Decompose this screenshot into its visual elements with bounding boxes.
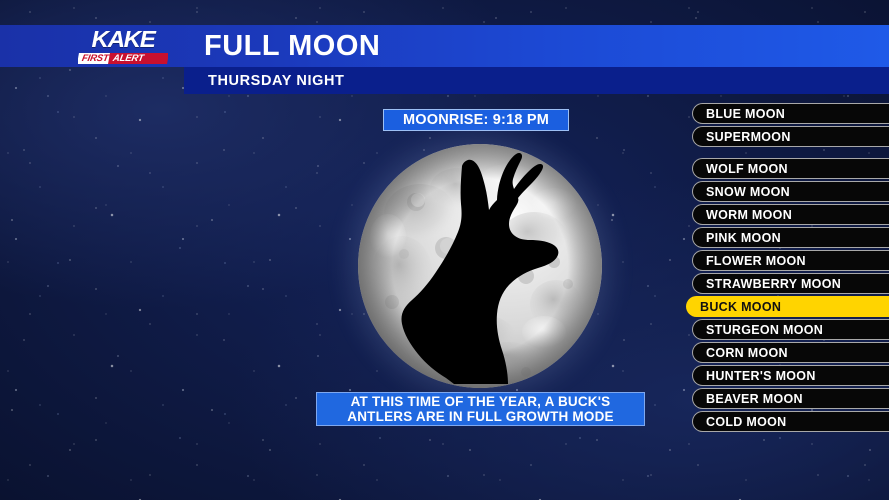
moon-list-monthly-group: WOLF MOONSNOW MOONWORM MOONPINK MOONFLOW… bbox=[692, 158, 889, 432]
moon-list-item-label: WORM MOON bbox=[706, 208, 792, 222]
moon-list-item-label: CORN MOON bbox=[706, 346, 788, 360]
moonrise-banner: MOONRISE: 9:18 PM bbox=[383, 109, 569, 131]
moon-list-group-divider bbox=[692, 149, 889, 158]
caption-banner: AT THIS TIME OF THE YEAR, A BUCK'S ANTLE… bbox=[316, 392, 645, 426]
moon-list-item[interactable]: HUNTER'S MOON bbox=[692, 365, 889, 386]
full-moon-icon bbox=[358, 144, 602, 388]
page-title: FULL MOON bbox=[204, 30, 380, 63]
moon-list-item[interactable]: SNOW MOON bbox=[692, 181, 889, 202]
weather-graphic-stage: KAKE FIRST ALERT FULL MOON THURSDAY NIGH… bbox=[0, 0, 889, 500]
moon-list-item[interactable]: STURGEON MOON bbox=[692, 319, 889, 340]
caption-line-2: ANTLERS ARE IN FULL GROWTH MODE bbox=[347, 409, 613, 424]
moon-list-item-label: COLD MOON bbox=[706, 415, 786, 429]
moon-list-item[interactable]: PINK MOON bbox=[692, 227, 889, 248]
moon-list-item-label: STRAWBERRY MOON bbox=[706, 277, 841, 291]
moon-list-item-label: SUPERMOON bbox=[706, 130, 791, 144]
moon-list-item[interactable]: BEAVER MOON bbox=[692, 388, 889, 409]
caption-line-1: AT THIS TIME OF THE YEAR, A BUCK'S bbox=[351, 394, 611, 409]
buck-deer-silhouette-icon bbox=[358, 144, 602, 388]
kake-logo-wordmark: KAKE bbox=[76, 28, 171, 51]
page-subtitle: THURSDAY NIGHT bbox=[208, 73, 345, 89]
moon-list-item-label: BUCK MOON bbox=[700, 300, 781, 314]
moon-list-item[interactable]: BLUE MOON bbox=[692, 103, 889, 124]
subheader-bar: THURSDAY NIGHT bbox=[184, 67, 889, 94]
moon-list-special-group: BLUE MOONSUPERMOON bbox=[692, 103, 889, 147]
moon-list-item[interactable]: STRAWBERRY MOON bbox=[692, 273, 889, 294]
moon-list-item[interactable]: SUPERMOON bbox=[692, 126, 889, 147]
kake-logo-first-alert: FIRST ALERT bbox=[78, 53, 168, 64]
moon-name-list: BLUE MOONSUPERMOON WOLF MOONSNOW MOONWOR… bbox=[692, 103, 889, 434]
moon-list-item-label: BEAVER MOON bbox=[706, 392, 803, 406]
moon-list-item[interactable]: WORM MOON bbox=[692, 204, 889, 225]
moon-list-item[interactable]: FLOWER MOON bbox=[692, 250, 889, 271]
full-moon-graphic bbox=[358, 144, 602, 388]
moon-list-item-selected[interactable]: BUCK MOON bbox=[686, 296, 889, 317]
moon-list-item-label: PINK MOON bbox=[706, 231, 781, 245]
kake-logo-alert-text: ALERT bbox=[108, 53, 168, 64]
moon-list-item-label: BLUE MOON bbox=[706, 107, 785, 121]
moonrise-time-label: MOONRISE: 9:18 PM bbox=[403, 112, 549, 128]
moon-list-item-label: SNOW MOON bbox=[706, 185, 790, 199]
moon-list-item-label: FLOWER MOON bbox=[706, 254, 806, 268]
moon-list-item-label: STURGEON MOON bbox=[706, 323, 823, 337]
moon-list-item[interactable]: WOLF MOON bbox=[692, 158, 889, 179]
kake-first-alert-logo: KAKE FIRST ALERT bbox=[78, 28, 168, 64]
moon-list-item[interactable]: CORN MOON bbox=[692, 342, 889, 363]
header-bar: KAKE FIRST ALERT FULL MOON bbox=[0, 25, 889, 67]
moon-list-item[interactable]: COLD MOON bbox=[692, 411, 889, 432]
moon-list-item-label: HUNTER'S MOON bbox=[706, 369, 816, 383]
moon-list-item-label: WOLF MOON bbox=[706, 162, 788, 176]
